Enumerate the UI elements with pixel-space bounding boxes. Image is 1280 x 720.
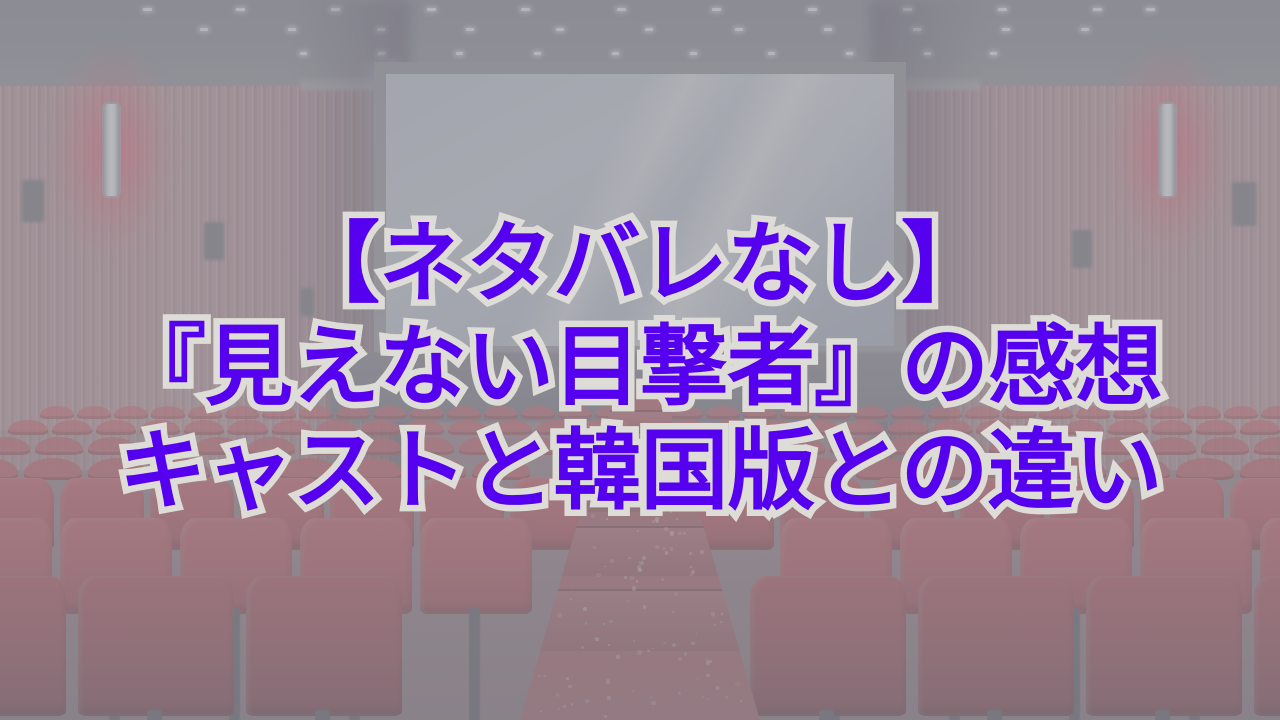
title-line-3: キャストと韓国版との違い — [118, 424, 1161, 517]
title-line-2: 『見えない目撃者』の感想 — [118, 320, 1162, 413]
title-line-1: 【ネタバレなし】 — [292, 217, 988, 310]
title-overlay: 【ネタバレなし】 『見えない目撃者』の感想 キャストと韓国版との違い — [0, 0, 1280, 720]
thumbnail-canvas: 【ネタバレなし】 『見えない目撃者』の感想 キャストと韓国版との違い — [0, 0, 1280, 720]
